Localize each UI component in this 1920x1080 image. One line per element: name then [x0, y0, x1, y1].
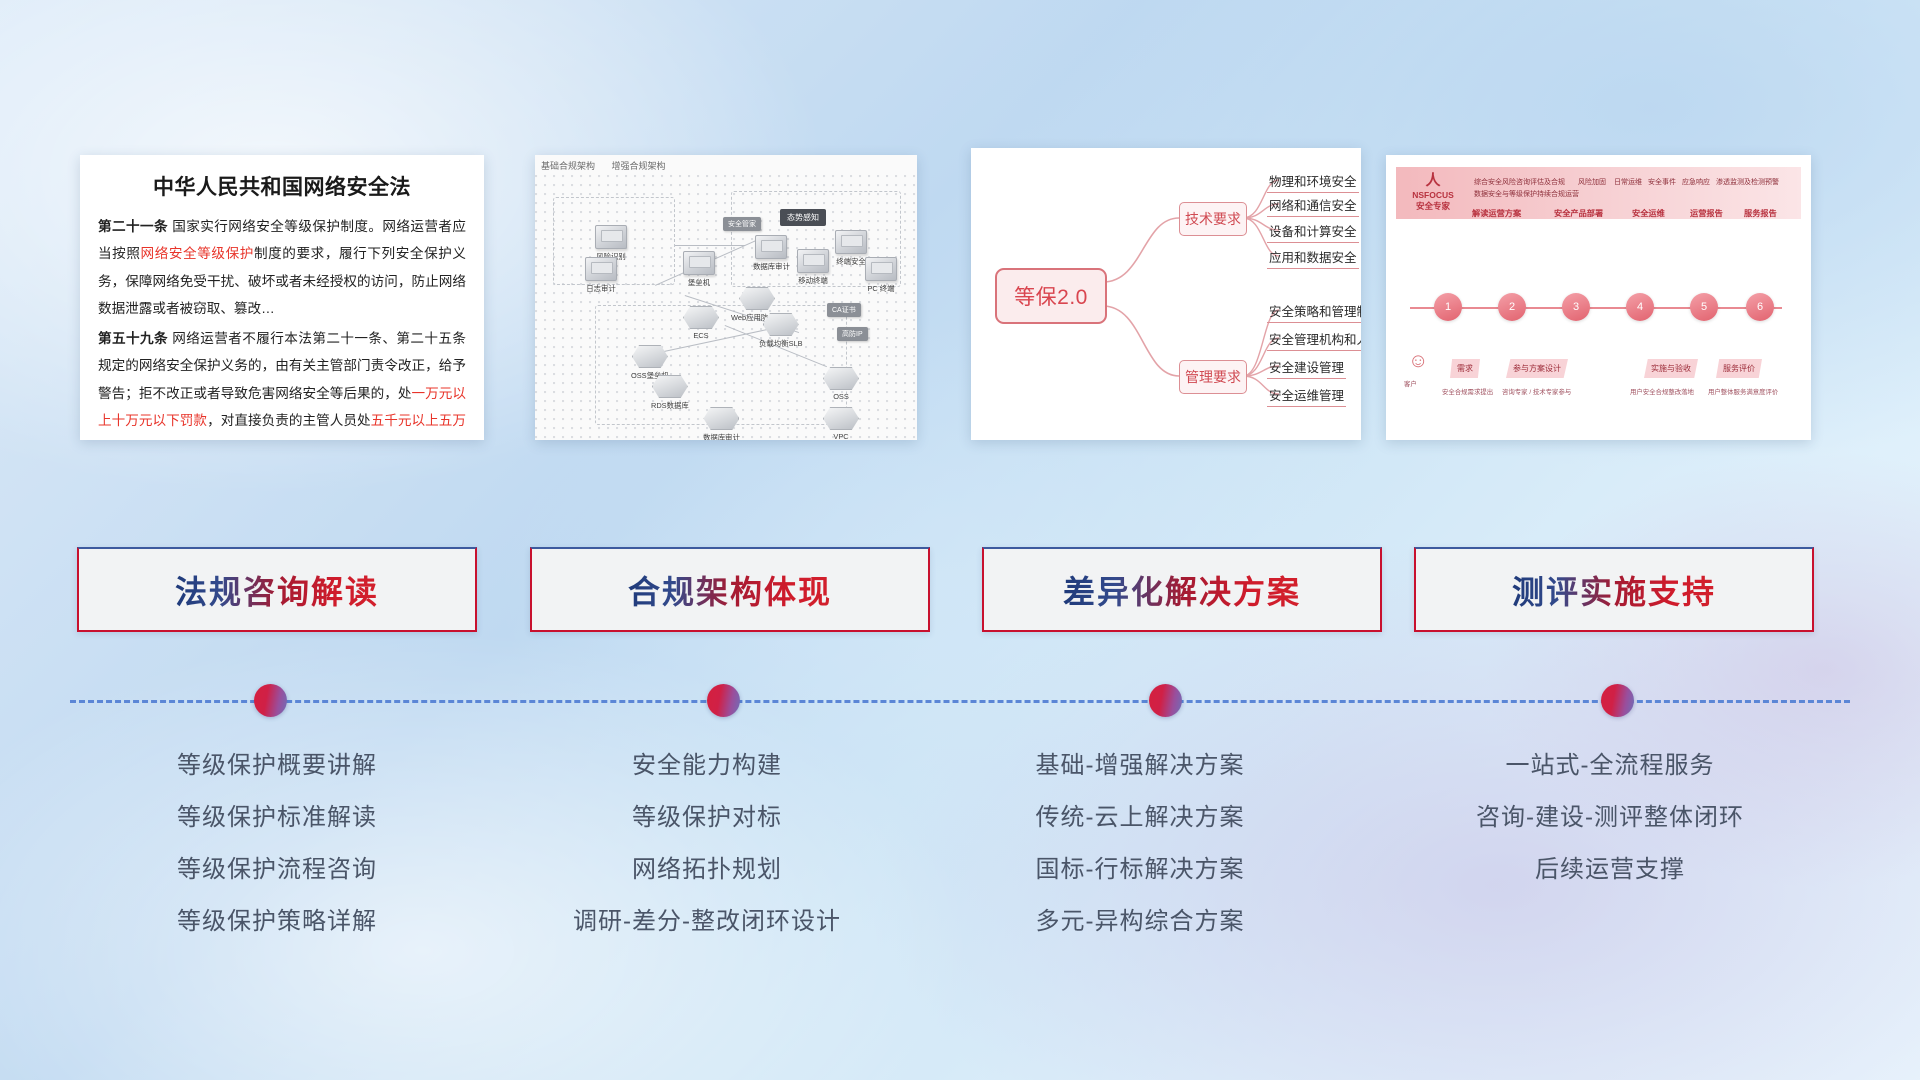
section-banner-label-3: 差异化解决方案 — [1063, 567, 1301, 613]
arch-tab-0[interactable]: 基础合规架构 — [541, 161, 595, 171]
roadmap-chip-1-title[interactable]: 参与方案设计 — [1506, 359, 1568, 378]
law-run-1-highlight: 网络安全等级保护 — [141, 246, 254, 261]
roadmap-caption-6: 数据安全与等级保护持续合规运营 — [1474, 189, 1579, 199]
preview-card-mindmap[interactable]: 等保2.0 技术要求 管理要求 物理和环境安全 网络和通信安全 设备和计算安全 … — [971, 148, 1361, 440]
feature-item: 等级保护对标 — [492, 792, 922, 844]
feature-item: 多元-异构综合方案 — [925, 896, 1355, 948]
hexagon-icon — [823, 367, 859, 390]
section-banner-architecture[interactable]: 合规架构体现 — [530, 547, 930, 632]
mindmap-leaf-t3[interactable]: 应用和数据安全 — [1267, 247, 1359, 269]
mindmap-leaf-t2[interactable]: 设备和计算安全 — [1267, 221, 1359, 243]
arch-node-label: 数据库审计 — [753, 262, 790, 271]
hexagon-icon — [703, 407, 739, 430]
feature-item: 安全能力构建 — [492, 740, 922, 792]
section-banner-solution[interactable]: 差异化解决方案 — [982, 547, 1382, 632]
arch-node-label: 移动终端 — [798, 276, 828, 285]
roadmap-caption-0: 综合安全风险咨询评估及合规 — [1474, 177, 1565, 187]
timeline-dot-1[interactable] — [254, 684, 287, 717]
arch-node-label: 终端安全 — [836, 257, 866, 266]
server-icon — [835, 230, 867, 254]
law-document: 中华人民共和国网络安全法 第二十一条 国家实行网络安全等级保护制度。网络运营者应… — [80, 155, 484, 440]
person-icon: 人 — [1402, 173, 1464, 188]
arch-node[interactable]: CA证书 — [827, 303, 861, 317]
mindmap-leaf-t1[interactable]: 网络和通信安全 — [1267, 195, 1359, 217]
mindmap-leaf-m2[interactable]: 安全建设管理 — [1267, 357, 1346, 379]
server-icon — [595, 225, 627, 249]
brand-name-en: NSFOCUS — [1412, 190, 1454, 200]
arch-node-label: 日志审计 — [586, 284, 616, 293]
feature-item: 网络拓扑规划 — [492, 844, 922, 896]
arch-node[interactable]: 数据库审计 — [753, 235, 790, 272]
timeline-dot-2[interactable] — [707, 684, 740, 717]
arch-node-label: 数据库审计 — [703, 433, 740, 440]
arch-node-label: 负载均衡SLB — [759, 339, 803, 348]
arch-node[interactable]: VPC — [823, 407, 859, 440]
roadmap-step-4[interactable]: 4 — [1626, 293, 1654, 321]
law-article-no-21: 第二十一条 — [98, 219, 168, 234]
roadmap-stage-tag-2: 安全运维 — [1632, 207, 1665, 219]
roadmap-diagram: 人 NSFOCUS 安全专家 综合安全风险咨询评估及合规 风险加固 日常运维 安… — [1386, 155, 1811, 440]
roadmap-stage-tag-4: 服务报告 — [1744, 207, 1777, 219]
feature-list-assessment: 一站式-全流程服务 咨询-建设-测评整体闭环 后续运营支撑 — [1395, 740, 1825, 896]
arch-node-label: PC 终端 — [867, 284, 894, 293]
arch-node-label: RDS数据库 — [651, 401, 689, 410]
feature-item: 咨询-建设-测评整体闭环 — [1395, 792, 1825, 844]
architecture-diagram: 基础合规架构 增强合规架构 安全管家态势感知风险识别日志审计堡垒机终端安全数据库… — [535, 155, 917, 440]
section-banner-label-4: 测评实施支持 — [1512, 567, 1716, 613]
roadmap-caption-3: 安全事件 — [1648, 177, 1676, 187]
hexagon-icon — [739, 287, 775, 310]
roadmap-chip-3-title[interactable]: 服务评价 — [1716, 359, 1762, 378]
roadmap-step-6[interactable]: 6 — [1746, 293, 1774, 321]
arch-node[interactable]: ECS — [683, 306, 719, 340]
feature-item: 等级保护标准解读 — [62, 792, 492, 844]
brand-name-cn: 安全专家 — [1416, 201, 1450, 211]
architecture-tabs: 基础合规架构 增强合规架构 — [535, 155, 917, 175]
arch-node-label: OSS — [833, 392, 849, 401]
feature-item: 等级保护策略详解 — [62, 896, 492, 948]
mindmap-branch-management[interactable]: 管理要求 — [1179, 360, 1247, 394]
roadmap-stage-tag-3: 运营报告 — [1690, 207, 1723, 219]
server-icon — [755, 235, 787, 259]
section-banner-label-1: 法规咨询解读 — [175, 567, 379, 613]
feature-list-regulation: 等级保护概要讲解 等级保护标准解读 等级保护流程咨询 等级保护策略详解 — [62, 740, 492, 948]
arch-node[interactable]: 数据库审计 — [703, 407, 740, 440]
feature-item: 传统-云上解决方案 — [925, 792, 1355, 844]
feature-item: 一站式-全流程服务 — [1395, 740, 1825, 792]
hexagon-icon — [683, 306, 719, 329]
arch-node[interactable]: 堡垒机 — [683, 251, 715, 288]
roadmap-customer-label: 客户 — [1404, 379, 1417, 388]
preview-card-roadmap[interactable]: 人 NSFOCUS 安全专家 综合安全风险咨询评估及合规 风险加固 日常运维 安… — [1386, 155, 1811, 440]
mindmap-leaf-m0[interactable]: 安全策略和管理制度 — [1267, 301, 1361, 323]
arch-tab-1[interactable]: 增强合规架构 — [612, 161, 666, 171]
roadmap-brand: 人 NSFOCUS 安全专家 — [1402, 173, 1464, 213]
feature-item: 基础-增强解决方案 — [925, 740, 1355, 792]
arch-node[interactable]: RDS数据库 — [651, 375, 689, 411]
roadmap-timeline-axis — [1410, 307, 1782, 309]
hexagon-icon — [763, 313, 799, 336]
law-run-5: ，对直接负责的主管人员处 — [207, 413, 371, 428]
server-icon — [797, 249, 829, 273]
feature-item: 等级保护概要讲解 — [62, 740, 492, 792]
roadmap-caption-1: 风险加固 — [1578, 177, 1606, 187]
roadmap-step-1[interactable]: 1 — [1434, 293, 1462, 321]
roadmap-chip-1-sub: 咨询专家 / 技术专家参与 — [1502, 387, 1571, 396]
section-banner-regulation[interactable]: 法规咨询解读 — [77, 547, 477, 632]
arch-node[interactable]: 高防IP — [837, 327, 868, 341]
roadmap-chip-2-title[interactable]: 实施与验收 — [1644, 359, 1698, 378]
roadmap-chip-0-title[interactable]: 需求 — [1450, 359, 1480, 378]
roadmap-chip-0-sub: 安全合规需求提出 — [1442, 387, 1493, 396]
arch-node-label: ECS — [693, 331, 708, 340]
mindmap-branch-technical[interactable]: 技术要求 — [1179, 202, 1247, 236]
hexagon-icon — [632, 345, 668, 368]
arch-node[interactable]: PC 终端 — [865, 257, 897, 294]
arch-node[interactable]: 安全管家 — [723, 217, 761, 231]
architecture-canvas: 安全管家态势感知风险识别日志审计堡垒机终端安全数据库审计PC 终端移动终端Web… — [535, 175, 917, 440]
hexagon-icon — [823, 407, 859, 430]
roadmap-step-2[interactable]: 2 — [1498, 293, 1526, 321]
customer-icon: ☺ — [1408, 351, 1428, 371]
law-title: 中华人民共和国网络安全法 — [98, 171, 466, 201]
section-banner-assessment[interactable]: 测评实施支持 — [1414, 547, 1814, 632]
roadmap-chip-3-sub: 用户整体服务满意度评价 — [1708, 387, 1778, 396]
law-paragraph-59: 第五十九条 网络运营者不履行本法第二十一条、第二十五条规定的网络安全保护义务的，… — [98, 325, 466, 440]
server-icon — [683, 251, 715, 275]
arch-node[interactable]: 负载均衡SLB — [759, 313, 803, 349]
feature-list-solution: 基础-增强解决方案 传统-云上解决方案 国标-行标解决方案 多元-异构综合方案 — [925, 740, 1355, 948]
feature-list-architecture: 安全能力构建 等级保护对标 网络拓扑规划 调研-差分-整改闭环设计 — [492, 740, 922, 948]
mindmap-leaf-m3[interactable]: 安全运维管理 — [1267, 385, 1346, 407]
section-banner-label-2: 合规架构体现 — [628, 567, 832, 613]
server-icon — [585, 257, 617, 281]
roadmap-caption-2: 日常运维 — [1614, 177, 1642, 187]
arch-node[interactable]: OSS — [823, 367, 859, 401]
mindmap-leaf-m1[interactable]: 安全管理机构和人员 — [1267, 329, 1361, 351]
roadmap-stage-tag-0: 解读运营方案 — [1472, 207, 1521, 219]
feature-item: 后续运营支撑 — [1395, 844, 1825, 896]
roadmap-step-3[interactable]: 3 — [1562, 293, 1590, 321]
hexagon-icon — [652, 375, 688, 398]
feature-item: 等级保护流程咨询 — [62, 844, 492, 896]
roadmap-step-5[interactable]: 5 — [1690, 293, 1718, 321]
roadmap-chip-2-sub: 用户安全合规整改落地 — [1630, 387, 1694, 396]
mindmap: 等保2.0 技术要求 管理要求 物理和环境安全 网络和通信安全 设备和计算安全 … — [971, 148, 1361, 440]
law-article-no-59: 第五十九条 — [98, 331, 168, 346]
roadmap-caption-5: 渗透监测及检测预警 — [1716, 177, 1779, 187]
server-icon — [865, 257, 897, 281]
feature-item: 国标-行标解决方案 — [925, 844, 1355, 896]
feature-item: 调研-差分-整改闭环设计 — [492, 896, 922, 948]
timeline-dot-3[interactable] — [1149, 684, 1182, 717]
roadmap-caption-4: 应急响应 — [1682, 177, 1710, 187]
arch-node[interactable]: 移动终端 — [797, 249, 829, 286]
arch-node-label: VPC — [833, 432, 848, 440]
preview-card-architecture[interactable]: 基础合规架构 增强合规架构 安全管家态势感知风险识别日志审计堡垒机终端安全数据库… — [535, 155, 917, 440]
timeline-dashed-line — [70, 700, 1850, 703]
arch-node[interactable]: 终端安全 — [835, 230, 867, 267]
roadmap-stage-tag-1: 安全产品部署 — [1554, 207, 1603, 219]
preview-card-law[interactable]: 中华人民共和国网络安全法 第二十一条 国家实行网络安全等级保护制度。网络运营者应… — [80, 155, 484, 440]
timeline-dot-4[interactable] — [1601, 684, 1634, 717]
mindmap-root[interactable]: 等保2.0 — [995, 268, 1107, 324]
arch-node[interactable]: 日志审计 — [585, 257, 617, 294]
arch-node-label: 堡垒机 — [688, 278, 710, 287]
arch-node[interactable]: 态势感知 — [780, 209, 826, 226]
mindmap-leaf-t0[interactable]: 物理和环境安全 — [1267, 171, 1359, 193]
law-paragraph-21: 第二十一条 国家实行网络安全等级保护制度。网络运营者应当按照网络安全等级保护制度… — [98, 213, 466, 323]
slide-stage: 中华人民共和国网络安全法 第二十一条 国家实行网络安全等级保护制度。网络运营者应… — [0, 0, 1920, 1080]
